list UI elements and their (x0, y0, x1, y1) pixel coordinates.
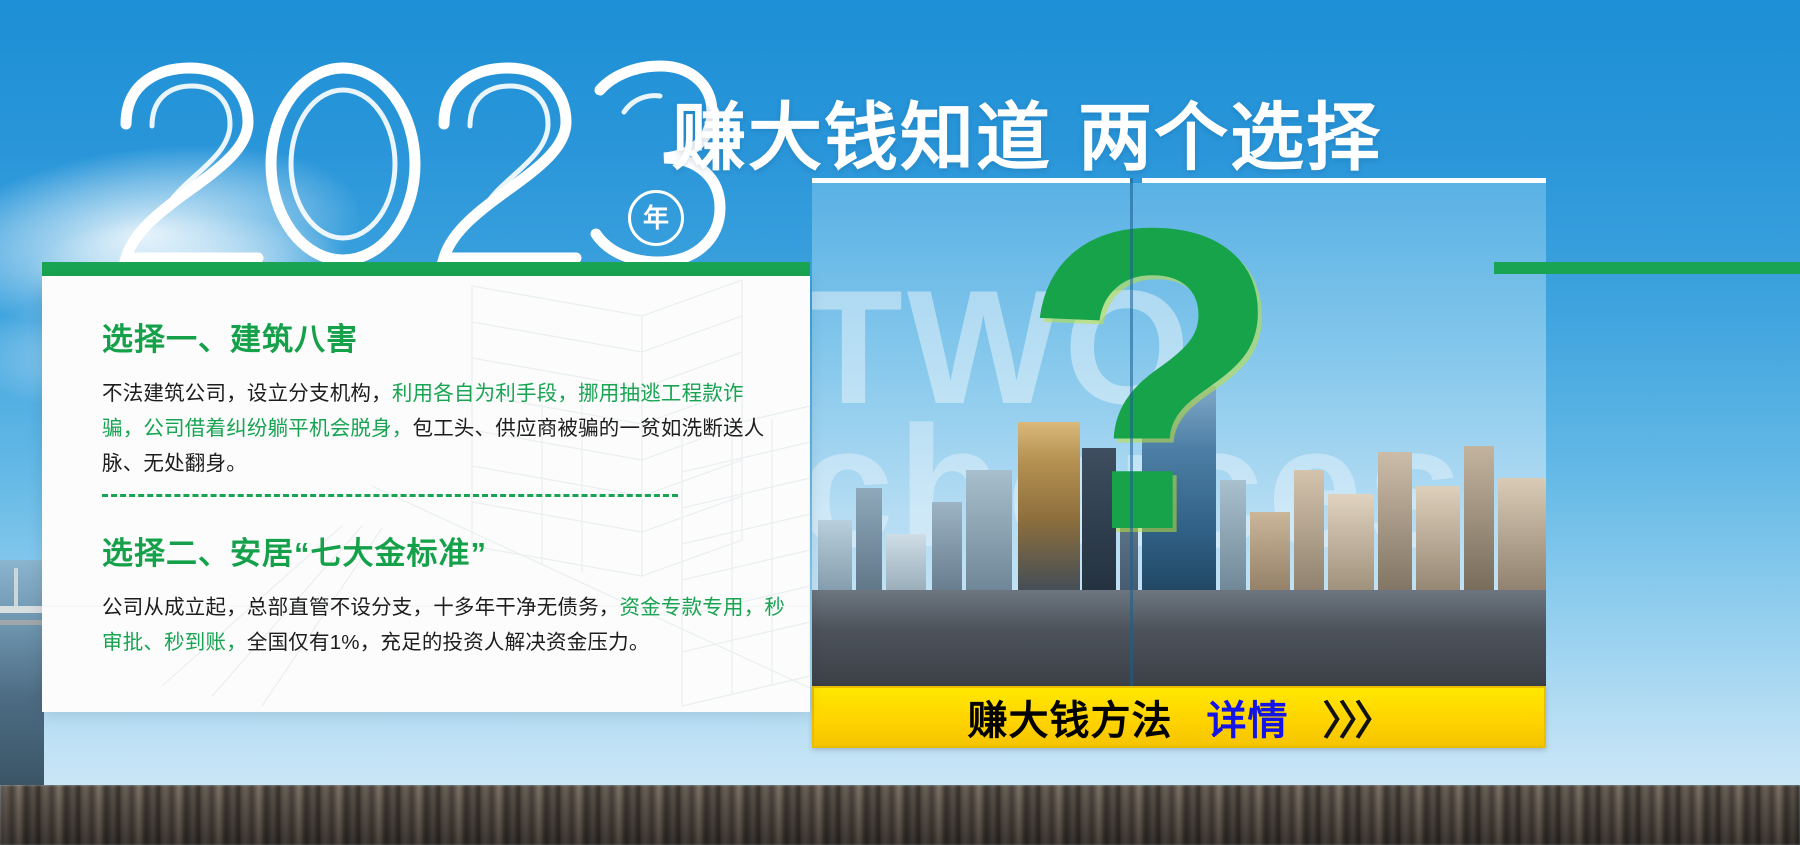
section-2-body: 公司从成立起，总部直管不设分支，十多年干净无债务，资金专款专用，秒审批、秒到账，… (102, 590, 792, 660)
right-green-tab (1494, 262, 1800, 274)
card-content: 选择一、建筑八害 不法建筑公司，设立分支机构，利用各自为利手段，挪用抽逃工程款诈… (42, 276, 810, 481)
section-1-title: 选择一、建筑八害 (102, 314, 780, 359)
question-mark-icon: ? (1020, 183, 1283, 595)
city-photo-panel: TWO choices ? (812, 183, 1546, 688)
cta-label: 赚大钱方法 (968, 688, 1173, 746)
section-divider (102, 494, 678, 497)
strip-overlay (0, 785, 1800, 845)
chevron-right-icon: 〉〉〉 (1323, 688, 1391, 746)
page-title: 赚大钱知道两个选择 (672, 78, 1382, 185)
headline-part-1: 赚大钱知道 (672, 96, 1052, 179)
card-top-accent (42, 262, 810, 276)
headline-part-2: 两个选择 (1078, 96, 1382, 179)
year-unit-badge: 年 (628, 190, 684, 246)
cta-link-text[interactable]: 详情 (1207, 688, 1289, 746)
bridge-deck (0, 606, 44, 613)
card-content-2: 选择二、安居“七大金标准” 公司从成立起，总部直管不设分支，十多年干净无债务，资… (102, 528, 802, 660)
section-1-body: 不法建筑公司，设立分支机构，利用各自为利手段，挪用抽逃工程款诈骗，公司借着纠纷躺… (102, 376, 780, 481)
cta-banner[interactable]: 赚大钱方法 详情 〉〉〉 (812, 686, 1546, 748)
s2-run-0: 公司从成立起，总部直管不设分支，十多年干净无债务， (102, 596, 620, 619)
poster-root: 年 赚大钱知道两个选择 TWO choices (0, 0, 1800, 845)
bottom-photo-strip (0, 785, 1800, 845)
content-card: 选择一、建筑八害 不法建筑公司，设立分支机构，利用各自为利手段，挪用抽逃工程款诈… (42, 276, 810, 712)
section-2-title: 选择二、安居“七大金标准” (102, 528, 802, 573)
left-scenery (0, 560, 44, 785)
s2-run-2: 全国仅有1%，充足的投资人解决资金压力。 (247, 631, 650, 654)
s1-run-0: 不法建筑公司，设立分支机构， (102, 382, 392, 405)
bridge-shadow (0, 620, 44, 625)
panel-divider (1130, 178, 1133, 688)
